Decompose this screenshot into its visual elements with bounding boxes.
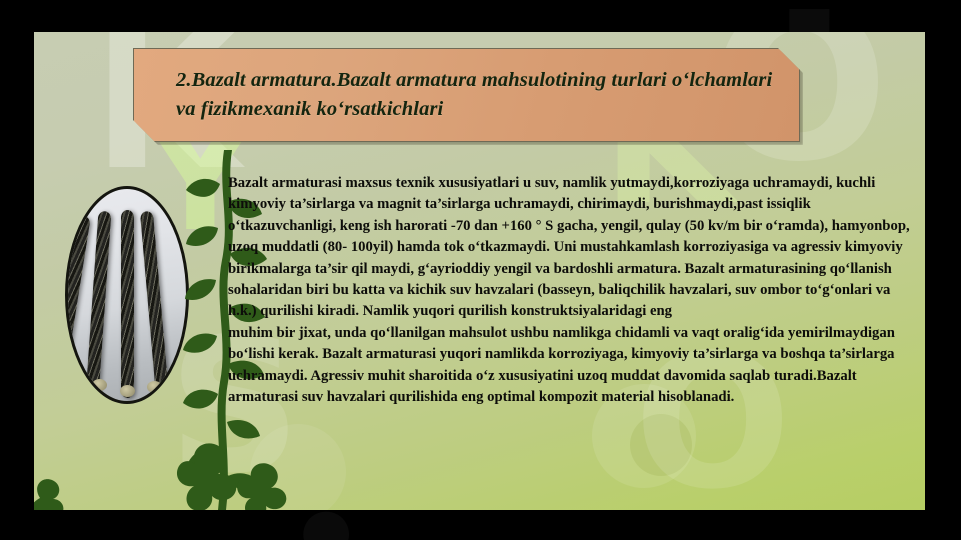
title-plaque: 2.Bazalt armatura.Bazalt armatura mahsul…	[133, 48, 800, 142]
ivy-sprig-bottom-left	[34, 472, 100, 510]
watermark-blob-2	[630, 414, 692, 476]
rebar-rod	[121, 210, 134, 398]
page-title: 2.Bazalt armatura.Bazalt armatura mahsul…	[134, 66, 799, 124]
body-paragraph: muhim bir jixat, unda qo‘llanilgan mahsu…	[228, 323, 918, 409]
body-paragraph: Bazalt armaturasi maxsus texnik xususiya…	[228, 173, 918, 323]
body-text-block: Bazalt armaturasi maxsus texnik xususiya…	[228, 173, 918, 408]
rebar-rod-tip	[147, 381, 162, 393]
slide-stage: ◆ ● K Y O K S O 2.Bazalt armatura.Bazalt…	[0, 0, 961, 540]
watermark-blob-3	[250, 424, 346, 510]
ivy-leaf-cluster-bottom	[160, 434, 300, 510]
rebar-rod	[86, 211, 112, 397]
rebar-rod-tip	[120, 385, 135, 397]
rebar-rod-tip	[92, 379, 107, 391]
rebar-rod-tip	[66, 371, 81, 383]
basalt-rebar-rods-photo	[65, 186, 189, 404]
rebar-rod	[140, 211, 169, 397]
slide-canvas: K Y O K S O 2.Bazalt armatura.Bazalt arm…	[34, 32, 925, 510]
